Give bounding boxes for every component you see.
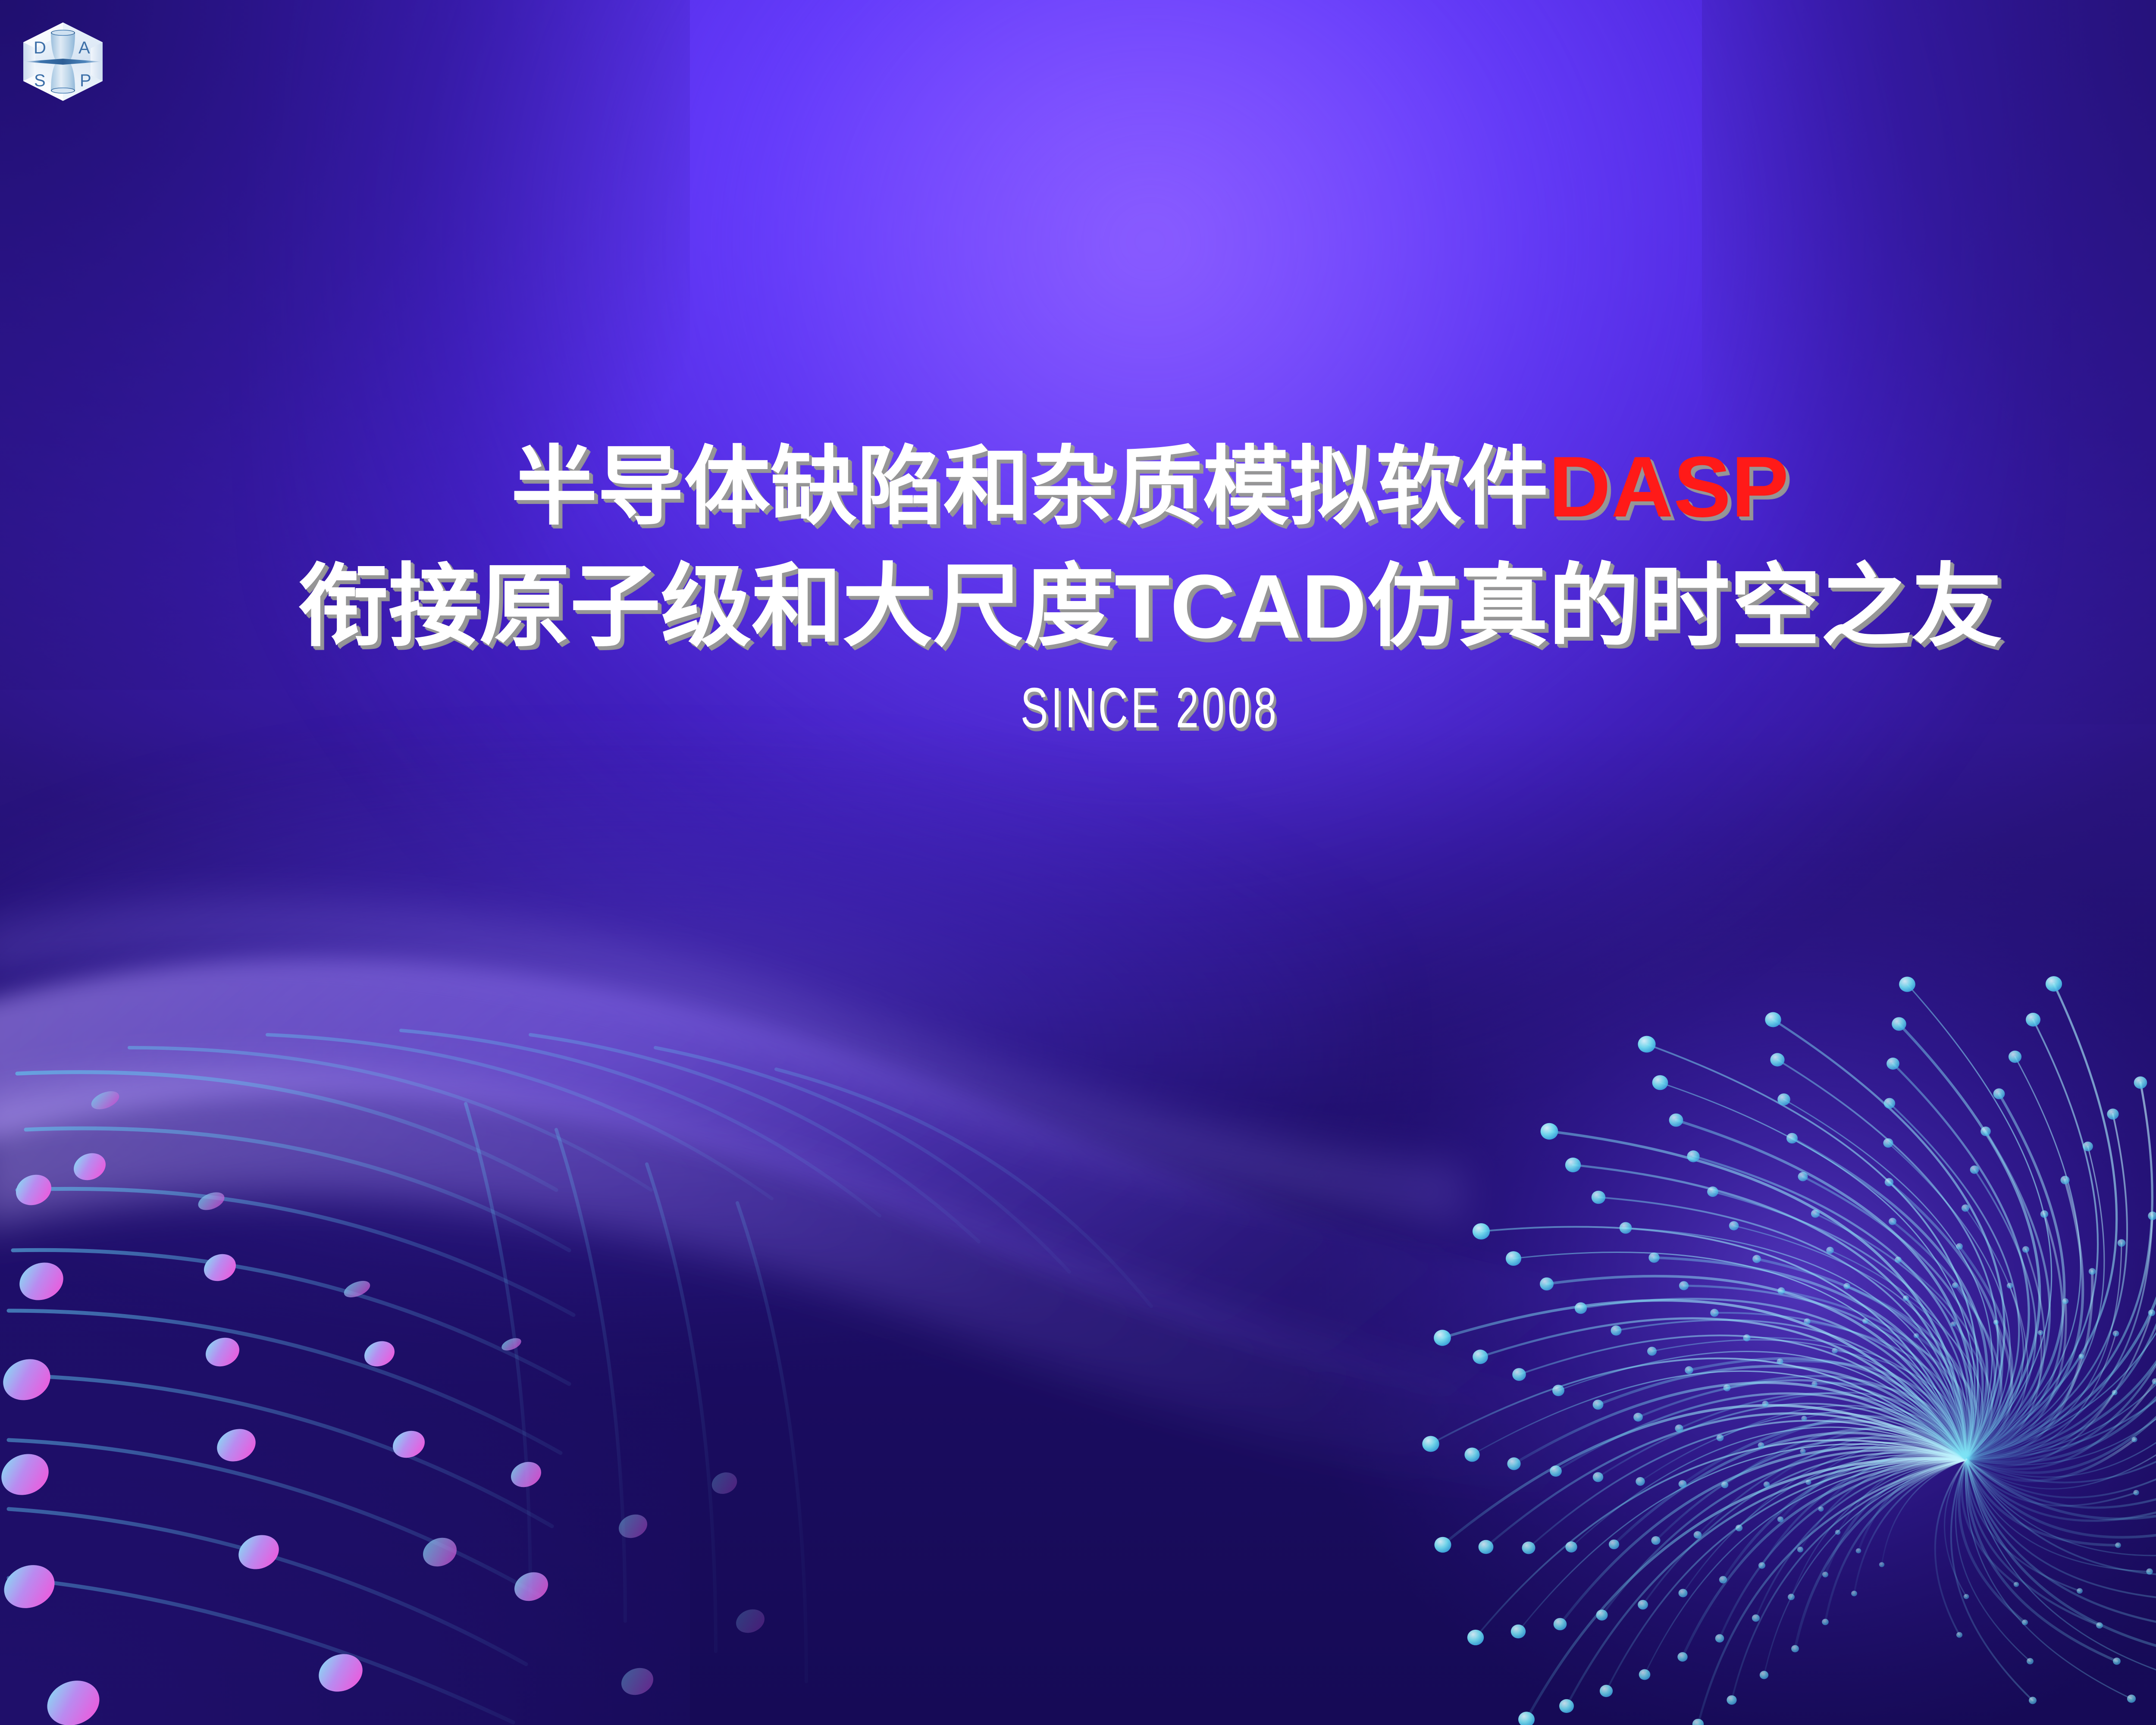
dasp-logo[interactable]: D A S P <box>18 21 108 103</box>
title-slide: D A S P 半导体缺陷和杂质模拟软件DASP 衔接原子级和大尺度TCAD仿真… <box>0 0 2156 1725</box>
logo-letter-s: S <box>34 71 46 90</box>
particle-sphere <box>0 0 2156 1725</box>
logo-letter-d: D <box>34 38 46 57</box>
logo-letter-a: A <box>78 38 90 57</box>
logo-letter-p: P <box>80 71 91 90</box>
